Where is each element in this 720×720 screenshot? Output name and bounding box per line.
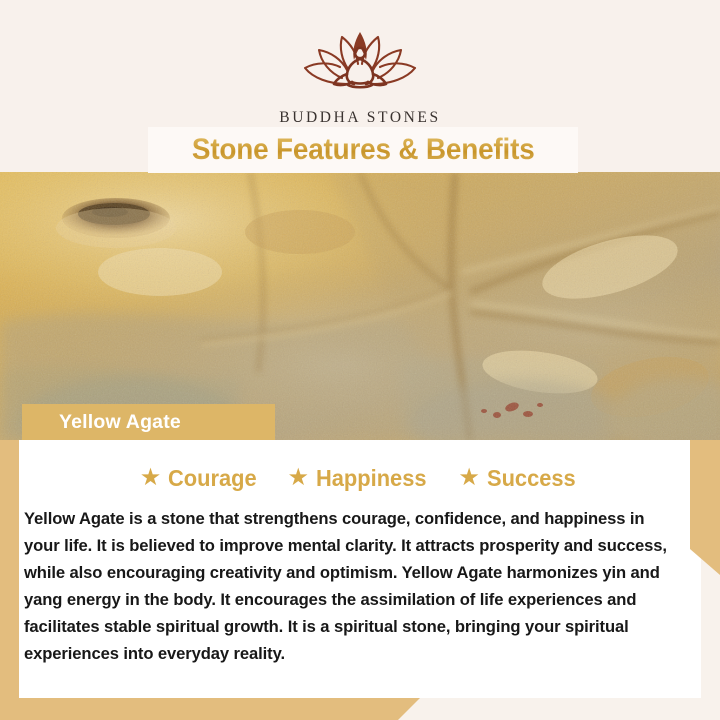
stone-name-label: Yellow Agate <box>22 411 181 434</box>
title-banner: Stone Features & Benefits <box>148 127 578 173</box>
benefit-item-courage: ★ Courage <box>140 465 262 492</box>
star-icon: ★ <box>458 466 480 490</box>
benefits-row: ★ Courage ★ Happiness ★ Success <box>19 465 701 492</box>
lotus-meditation-icon <box>285 26 435 104</box>
star-icon: ★ <box>288 466 310 490</box>
benefit-label: Courage <box>168 465 257 492</box>
benefit-label: Happiness <box>316 465 427 492</box>
brand-logo: BUDDHA STONES <box>0 26 720 127</box>
page-title: Stone Features & Benefits <box>192 133 535 167</box>
stone-name-badge: Yellow Agate <box>22 404 275 440</box>
content-panel: ★ Courage ★ Happiness ★ Success Yellow A… <box>19 440 701 698</box>
description-paragraph: Yellow Agate is a stone that strengthens… <box>19 505 701 667</box>
benefit-item-happiness: ★ Happiness <box>288 465 433 492</box>
infographic-page: BUDDHA STONES Stone Features & Benefits <box>0 0 720 720</box>
bottom-gold-band <box>0 698 420 720</box>
stone-photo <box>0 172 720 440</box>
benefit-item-success: ★ Success <box>458 465 580 492</box>
star-icon: ★ <box>140 466 162 490</box>
benefit-label: Success <box>487 465 576 492</box>
brand-name: BUDDHA STONES <box>279 109 440 127</box>
stone-texture-image <box>0 172 720 440</box>
